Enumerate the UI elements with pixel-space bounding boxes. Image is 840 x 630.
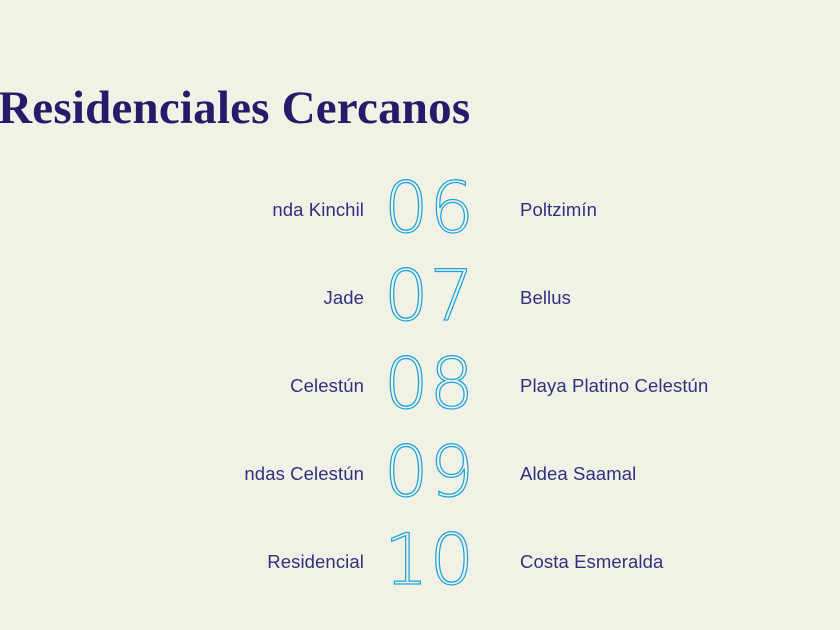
list-item-number-text: 08 bbox=[384, 343, 475, 425]
list-item-right-label: Playa Platino Celestún bbox=[520, 342, 708, 430]
page-title: os Residenciales Cercanos bbox=[0, 84, 840, 133]
list-item-left-label: Jade bbox=[323, 254, 364, 342]
list-item-number-text: 06 bbox=[384, 167, 475, 249]
list-item-number-text: 07 bbox=[384, 255, 475, 337]
list-item[interactable]: nda Kinchil 06 Poltzimín bbox=[0, 166, 840, 254]
list-item-number: 09 bbox=[384, 438, 480, 510]
residential-developments-list: nda Kinchil 06 Poltzimín Jade 07 Bellus … bbox=[0, 166, 840, 630]
list-item-left-label: Residencial bbox=[267, 518, 364, 606]
list-item-left-label: Celestún bbox=[290, 342, 364, 430]
list-item-right-label: Poltzimín bbox=[520, 166, 597, 254]
list-item-left-label: ndas Celestún bbox=[244, 430, 364, 518]
list-item-number: 10 bbox=[384, 526, 480, 598]
list-item[interactable]: ndas Celestún 09 Aldea Saamal bbox=[0, 430, 840, 518]
list-item-right-label: Aldea Saamal bbox=[520, 430, 636, 518]
list-item-number-text: 09 bbox=[384, 431, 475, 513]
list-item-number: 06 bbox=[384, 174, 480, 246]
list-item[interactable]: Celestún 08 Playa Platino Celestún bbox=[0, 342, 840, 430]
list-item-number-text: 10 bbox=[384, 519, 475, 601]
list-item[interactable]: Jade 07 Bellus bbox=[0, 254, 840, 342]
list-item-right-label: Costa Esmeralda bbox=[520, 518, 663, 606]
list-item-number: 07 bbox=[384, 262, 480, 334]
list-item-right-label: Bellus bbox=[520, 254, 571, 342]
list-item[interactable]: Residencial 10 Costa Esmeralda bbox=[0, 518, 840, 606]
list-item-left-label: nda Kinchil bbox=[272, 166, 364, 254]
list-item-number: 08 bbox=[384, 350, 480, 422]
slide-canvas: os Residenciales Cercanos nda Kinchil 06… bbox=[0, 0, 840, 630]
